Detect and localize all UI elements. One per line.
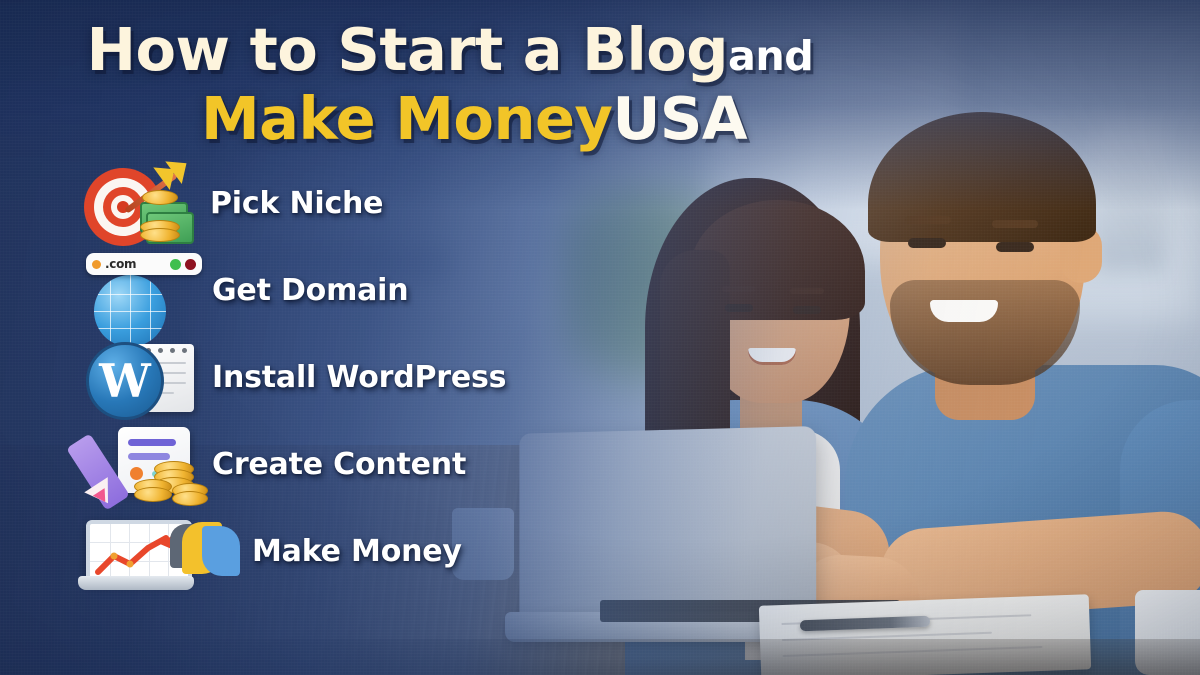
step-label: Install WordPress — [210, 360, 506, 395]
title-line-2: Make MoneyUSA — [0, 89, 900, 148]
title-highlight-1: How to Start a Blog — [87, 15, 728, 84]
title-line-1: How to Start a Blogand — [0, 20, 900, 79]
step-item-get-domain: .com Get Domain — [78, 247, 638, 333]
page-title: How to Start a Blogand Make MoneyUSA — [0, 20, 900, 148]
red-dot-icon — [185, 259, 196, 270]
title-tail-1: and — [728, 32, 813, 80]
step-label: Get Domain — [210, 273, 408, 308]
wordpress-logo-icon: W — [78, 334, 210, 420]
create-content-icon — [78, 421, 210, 507]
address-bar-text: .com — [105, 257, 136, 271]
wordpress-w-mark: W — [99, 358, 151, 404]
step-item-create-content: Create Content — [78, 421, 638, 507]
step-item-make-money: Make Money — [78, 508, 638, 594]
step-label: Make Money — [210, 534, 462, 569]
step-label: Create Content — [210, 447, 466, 482]
step-item-install-wordpress: W Install WordPress — [78, 334, 638, 420]
thumbnail-canvas: How to Start a Blogand Make MoneyUSA — [0, 0, 1200, 675]
globe-icon: .com — [78, 247, 210, 333]
bullet-dot-icon — [92, 260, 101, 269]
step-label: Pick Niche — [210, 186, 383, 221]
step-item-pick-niche: Pick Niche — [78, 160, 638, 246]
target-arrow-icon — [78, 160, 210, 246]
title-tail-2: USA — [612, 84, 747, 153]
steps-list: Pick Niche .com Get — [78, 160, 638, 595]
laptop-growth-chart-icon — [78, 508, 210, 594]
browser-address-bar-icon: .com — [86, 253, 202, 275]
green-dot-icon — [170, 259, 181, 270]
title-highlight-2: Make Money — [201, 84, 612, 153]
